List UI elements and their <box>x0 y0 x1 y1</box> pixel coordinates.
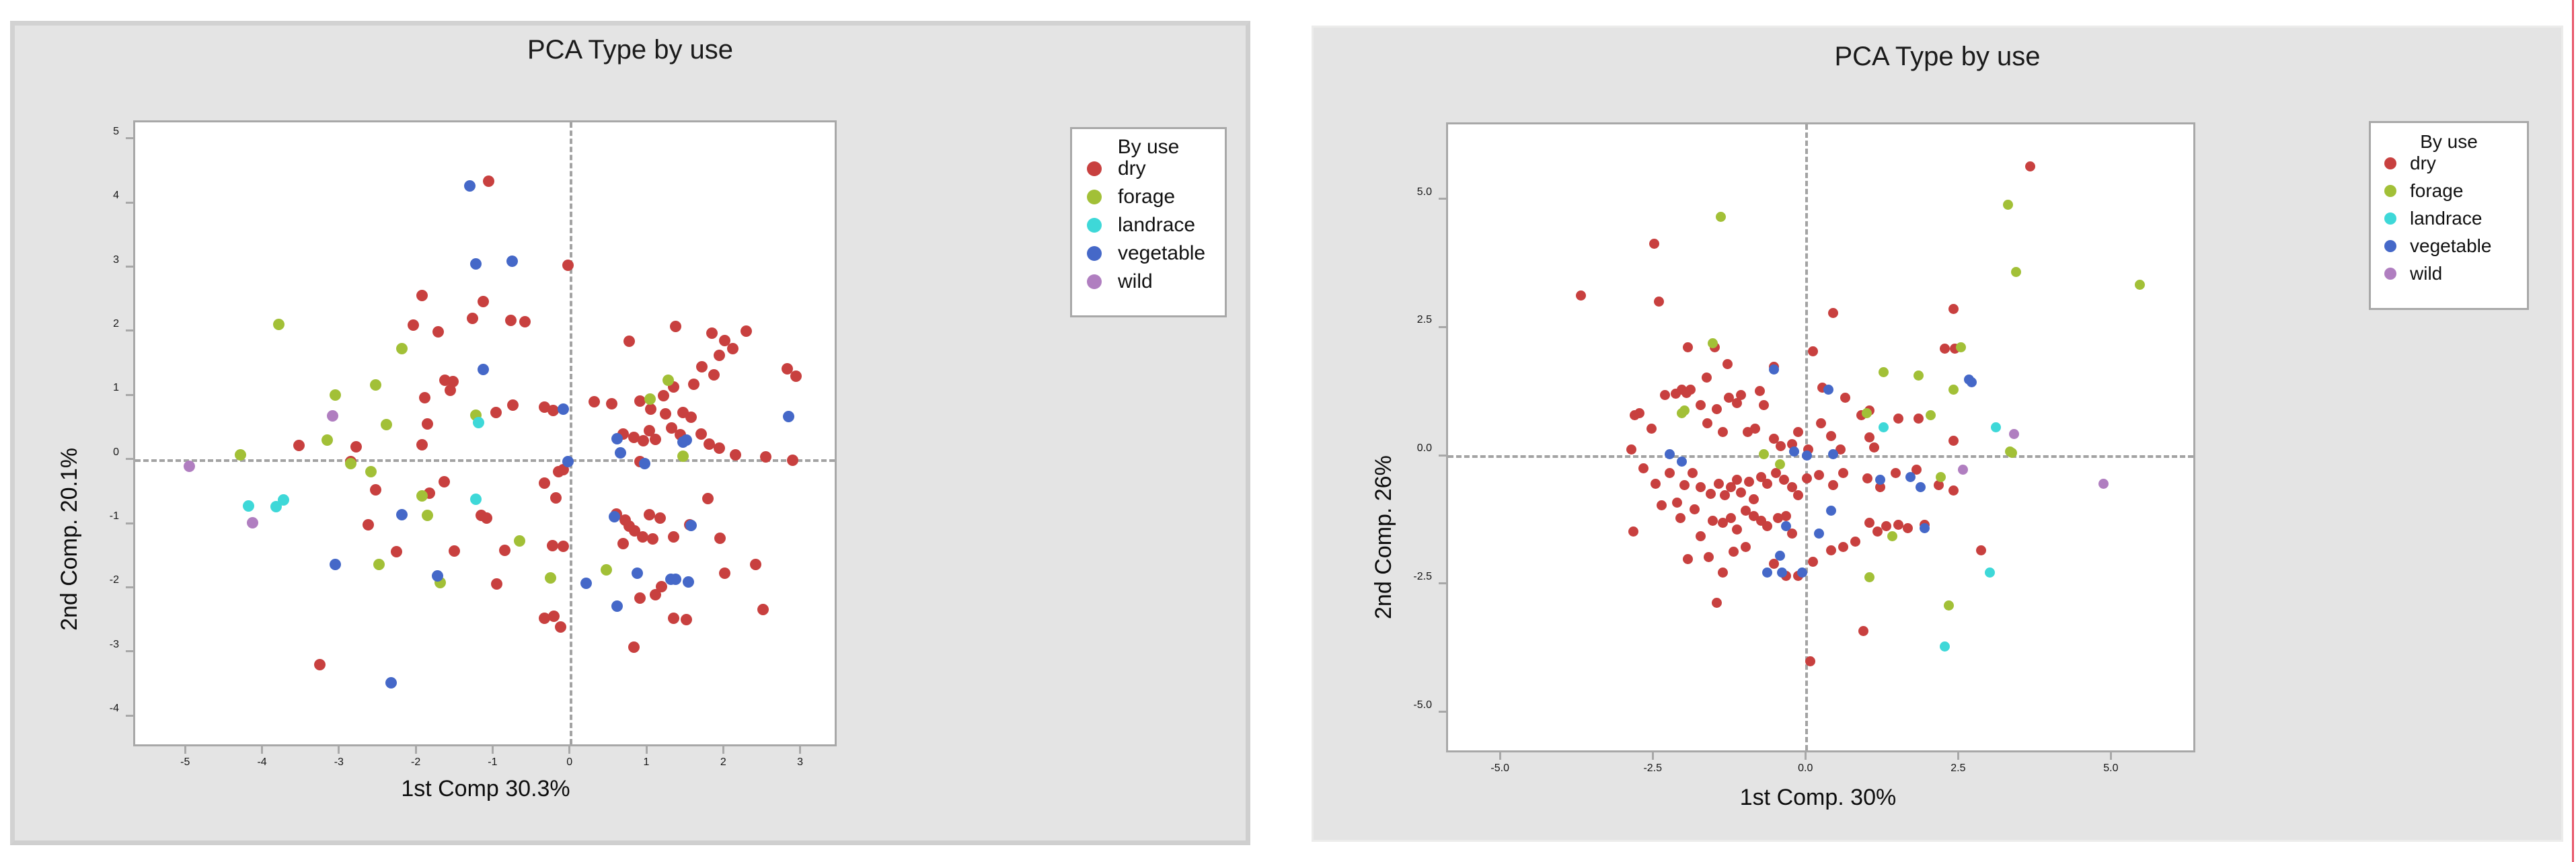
left-chart-panel: PCA Type by use -5-4-3-2-10123-4-3-2-101… <box>10 21 1250 845</box>
y-tick <box>126 458 135 460</box>
y-tick <box>1439 326 1448 328</box>
data-point <box>1826 506 1836 516</box>
x-tick <box>261 744 263 754</box>
data-point <box>1958 465 1968 475</box>
data-point <box>1672 498 1682 508</box>
x-tick-label: -3 <box>299 756 379 769</box>
data-point <box>1926 410 1936 420</box>
data-point <box>562 456 574 467</box>
data-point <box>639 458 650 469</box>
data-point <box>1702 418 1712 428</box>
legend-swatch-icon <box>1087 274 1102 289</box>
legend-swatch-icon <box>1087 218 1102 233</box>
data-point <box>321 434 333 446</box>
data-point <box>2135 280 2145 290</box>
data-point <box>1903 523 1913 533</box>
data-point <box>243 500 254 512</box>
data-point <box>1914 370 1924 381</box>
x-tick-label: 1 <box>606 756 687 769</box>
data-point <box>662 375 674 386</box>
data-point <box>1712 404 1722 414</box>
data-point <box>1789 446 1799 457</box>
right-plot-area <box>1446 122 2195 752</box>
data-point <box>555 621 566 633</box>
data-point <box>1781 511 1791 521</box>
data-point <box>1940 641 1950 652</box>
data-point <box>644 393 656 405</box>
left-x-axis-label: 1st Comp 30.3% <box>15 776 956 802</box>
left-plot-area <box>133 120 837 746</box>
data-point <box>2025 161 2035 171</box>
data-point <box>760 451 771 463</box>
data-point <box>1828 308 1838 318</box>
right-x-axis-label: 1st Comp. 30% <box>1314 785 2322 811</box>
data-point <box>1775 551 1785 561</box>
data-point <box>1722 359 1733 369</box>
data-point <box>330 559 341 570</box>
data-point <box>327 410 338 422</box>
data-point <box>1823 385 1833 395</box>
data-point <box>422 510 433 521</box>
data-point <box>1646 424 1657 434</box>
data-point <box>617 538 629 549</box>
legend-swatch-icon <box>2384 240 2396 252</box>
legend-label: dry <box>2410 153 2436 174</box>
data-point <box>727 343 738 354</box>
data-point <box>1826 431 1836 441</box>
legend-item-vegetable[interactable]: vegetable <box>2384 235 2491 257</box>
data-point <box>1864 518 1874 528</box>
data-point <box>1838 468 1848 478</box>
x-tick-label: -5.0 <box>1460 762 1540 775</box>
data-point <box>1677 457 1687 467</box>
y-tick <box>126 715 135 717</box>
data-point <box>589 396 600 407</box>
data-point <box>750 559 761 570</box>
data-point <box>1864 572 1874 582</box>
x-tick <box>722 744 724 754</box>
data-point <box>1718 567 1728 578</box>
data-point <box>1805 656 1815 666</box>
data-point <box>1864 432 1874 442</box>
data-point <box>1893 520 1903 530</box>
left-legend: By usedryforagelandracevegetablewild <box>1070 127 1227 317</box>
data-point <box>1887 531 1897 541</box>
data-point <box>1814 470 1824 480</box>
data-point <box>449 545 460 557</box>
data-point <box>1762 567 1772 578</box>
data-point <box>2011 267 2021 277</box>
data-point <box>1948 304 1959 314</box>
data-point <box>702 493 714 504</box>
data-point <box>363 519 374 531</box>
data-point <box>1776 441 1786 451</box>
data-point <box>615 447 626 459</box>
legend-label: dry <box>1118 157 1146 180</box>
data-point <box>688 379 699 390</box>
data-point <box>757 604 769 615</box>
data-point <box>695 428 707 440</box>
legend-swatch-icon <box>1087 161 1102 176</box>
left-chart-title: PCA Type by use <box>15 35 1246 65</box>
x-tick <box>492 744 494 754</box>
legend-item-forage[interactable]: forage <box>1087 186 1175 208</box>
data-point <box>1916 482 1926 492</box>
x-tick <box>1652 750 1654 760</box>
x-tick-label: -4 <box>222 756 303 769</box>
data-point <box>623 336 635 347</box>
legend-item-wild[interactable]: wild <box>1087 270 1153 293</box>
data-point <box>385 677 397 689</box>
data-point <box>644 509 655 520</box>
data-point <box>1991 422 2001 432</box>
data-point <box>708 369 720 381</box>
data-point <box>1749 494 1759 504</box>
data-point <box>683 576 694 588</box>
legend-item-landrace[interactable]: landrace <box>2384 208 2482 229</box>
data-point <box>1948 485 1959 496</box>
data-point <box>1690 504 1700 514</box>
data-point <box>184 461 195 472</box>
x-reference-line <box>570 122 572 744</box>
legend-item-dry[interactable]: dry <box>2384 153 2436 174</box>
data-point <box>373 559 385 570</box>
data-point <box>609 511 620 522</box>
data-point <box>1732 475 1742 485</box>
data-point <box>1956 342 1966 352</box>
y-tick <box>1439 711 1448 713</box>
legend-item-vegetable[interactable]: vegetable <box>1087 242 1205 265</box>
data-point <box>1840 393 1850 403</box>
data-point <box>580 578 592 589</box>
y-tick-label: 3 <box>18 254 119 266</box>
data-point <box>416 439 428 450</box>
data-point <box>365 466 377 477</box>
data-point <box>1654 297 1664 307</box>
data-point <box>1793 490 1803 500</box>
data-point <box>650 434 661 445</box>
left-y-axis-label: 2nd Comp. 20.1% <box>56 448 83 631</box>
data-point <box>714 442 725 454</box>
data-point <box>1891 468 1901 478</box>
legend-swatch-icon <box>1087 190 1102 204</box>
data-point <box>1816 418 1826 428</box>
legend-item-wild[interactable]: wild <box>2384 263 2442 284</box>
data-point <box>670 574 681 585</box>
data-point <box>1879 422 1889 432</box>
data-point <box>1706 489 1716 499</box>
legend-swatch-icon <box>2384 212 2396 225</box>
data-point <box>668 613 679 624</box>
data-point <box>2007 448 2017 458</box>
y-tick-label: -4 <box>18 703 119 715</box>
legend-swatch-icon <box>2384 268 2396 280</box>
data-point <box>481 512 492 524</box>
x-tick <box>1805 750 1807 760</box>
data-point <box>1708 338 1718 348</box>
data-point <box>654 512 666 524</box>
data-point <box>1634 408 1644 418</box>
x-tick <box>1957 750 1959 760</box>
y-tick <box>126 137 135 139</box>
data-point <box>1869 442 1879 453</box>
data-point <box>483 175 494 187</box>
data-point <box>1762 479 1772 489</box>
x-tick-label: 3 <box>760 756 841 769</box>
data-point <box>696 361 708 373</box>
y-tick <box>1439 582 1448 584</box>
data-point <box>419 392 430 403</box>
data-point <box>611 433 623 444</box>
data-point <box>314 659 326 670</box>
data-point <box>706 327 718 339</box>
data-point <box>1696 531 1706 541</box>
y-tick <box>126 394 135 396</box>
data-point <box>350 441 362 453</box>
data-point <box>632 567 643 579</box>
data-point <box>685 520 697 531</box>
data-point <box>1665 468 1675 478</box>
x-tick-label: 0.0 <box>1765 762 1846 775</box>
data-point <box>558 541 569 552</box>
data-point <box>478 296 489 307</box>
data-point <box>741 325 752 337</box>
x-tick <box>799 744 801 754</box>
data-point <box>464 180 476 192</box>
data-point <box>1720 490 1730 500</box>
data-point <box>467 313 478 324</box>
x-tick <box>2110 750 2112 760</box>
data-point <box>1944 600 1954 611</box>
y-tick-label: 0.0 <box>1331 442 1432 455</box>
data-point <box>1741 542 1751 552</box>
data-point <box>1696 482 1706 492</box>
data-point <box>1750 424 1760 434</box>
data-point <box>1708 516 1718 526</box>
data-point <box>1762 521 1772 531</box>
legend-label: landrace <box>1118 214 1195 237</box>
data-point <box>1651 479 1661 489</box>
right-chart-title: PCA Type by use <box>1314 42 2561 72</box>
x-tick <box>646 744 648 754</box>
legend-swatch-icon <box>1087 246 1102 261</box>
data-point <box>547 540 558 551</box>
data-point <box>670 321 681 332</box>
data-point <box>416 290 428 301</box>
y-tick-label: -3 <box>18 639 119 651</box>
data-point <box>1649 239 1659 249</box>
data-point <box>1696 400 1706 410</box>
legend-label: vegetable <box>2410 235 2491 257</box>
data-point <box>1814 528 1824 539</box>
data-point <box>1875 475 1885 485</box>
legend-item-landrace[interactable]: landrace <box>1087 214 1195 237</box>
data-point <box>1769 559 1779 569</box>
data-point <box>1879 367 1889 377</box>
data-point <box>1797 567 1807 578</box>
data-point <box>1628 526 1638 537</box>
data-point <box>519 316 531 327</box>
y-tick <box>126 266 135 268</box>
data-point <box>293 440 305 451</box>
data-point <box>2009 429 2019 439</box>
x-tick-label: 0 <box>529 756 610 769</box>
data-point <box>628 641 640 653</box>
data-point <box>545 572 556 584</box>
y-tick <box>1439 455 1448 457</box>
y-reference-line <box>1448 455 2193 458</box>
data-point <box>787 455 798 466</box>
legend-label: vegetable <box>1118 242 1205 265</box>
data-point <box>1638 463 1649 473</box>
data-point <box>1808 346 1818 356</box>
data-point <box>396 509 408 520</box>
data-point <box>1905 472 1916 482</box>
data-point <box>1683 342 1693 352</box>
data-point <box>719 567 730 579</box>
data-point <box>539 477 550 489</box>
x-tick <box>568 744 570 754</box>
data-point <box>1716 212 1726 222</box>
data-point <box>273 319 285 330</box>
data-point <box>473 417 484 428</box>
data-point <box>470 494 482 505</box>
y-tick-label: 4 <box>18 190 119 202</box>
data-point <box>370 484 381 496</box>
data-point <box>611 600 623 612</box>
y-tick <box>1439 198 1448 200</box>
x-tick-label: -2 <box>375 756 456 769</box>
data-point <box>278 494 289 506</box>
data-point <box>783 411 794 422</box>
y-tick-label: 5.0 <box>1331 186 1432 198</box>
data-point <box>1802 473 1812 483</box>
data-point <box>550 492 562 504</box>
data-point <box>1967 377 1977 387</box>
data-point <box>445 385 456 396</box>
x-tick <box>1499 750 1501 760</box>
x-tick-label: -5 <box>145 756 225 769</box>
y-tick <box>126 522 135 524</box>
y-tick <box>126 202 135 204</box>
data-point <box>634 592 646 604</box>
data-point <box>432 326 444 338</box>
y-tick <box>126 329 135 331</box>
legend-item-forage[interactable]: forage <box>2384 180 2463 202</box>
data-point <box>1893 414 1903 424</box>
data-point <box>247 517 258 528</box>
data-point <box>658 390 669 401</box>
data-point <box>548 611 560 622</box>
data-point <box>416 490 428 502</box>
data-point <box>714 350 725 361</box>
data-point <box>1828 449 1838 459</box>
data-point <box>1914 414 1924 424</box>
data-point <box>790 370 802 382</box>
x-tick-label: 2.5 <box>1918 762 1998 775</box>
legend-item-dry[interactable]: dry <box>1087 157 1146 180</box>
legend-title: By use <box>2371 131 2527 153</box>
data-point <box>1850 537 1860 547</box>
right-edge-accent-line <box>2572 0 2574 862</box>
x-tick <box>338 744 340 754</box>
right-chart-panel: PCA Type by use -5.0-2.50.02.55.0-5.0-2.… <box>1312 26 2563 842</box>
data-point <box>470 258 482 270</box>
data-point <box>1626 444 1636 455</box>
data-point <box>558 403 569 415</box>
legend-label: forage <box>1118 186 1175 208</box>
data-point <box>2098 479 2109 489</box>
legend-label: wild <box>2410 263 2442 284</box>
data-point <box>714 533 726 544</box>
data-point <box>1759 400 1769 410</box>
data-point <box>1702 373 1712 383</box>
data-point <box>2003 200 2013 210</box>
data-point <box>1685 385 1696 395</box>
data-point <box>1793 427 1803 437</box>
data-point <box>1714 479 1724 489</box>
data-point <box>1755 386 1765 396</box>
legend-label: forage <box>2410 180 2463 202</box>
data-point <box>1744 477 1754 487</box>
data-point <box>645 403 656 415</box>
x-tick <box>415 744 417 754</box>
data-point <box>681 614 692 625</box>
data-point <box>1683 554 1693 564</box>
x-tick-label: 5.0 <box>2070 762 2151 775</box>
data-point <box>685 412 697 423</box>
y-tick-label: -5.0 <box>1331 699 1432 711</box>
data-point <box>1838 542 1848 552</box>
y-tick <box>126 650 135 652</box>
data-point <box>647 533 658 545</box>
data-point <box>506 256 518 267</box>
data-point <box>1732 524 1742 535</box>
data-point <box>432 570 443 582</box>
data-point <box>1679 480 1690 490</box>
data-point <box>505 315 517 326</box>
data-point <box>553 466 564 477</box>
data-point <box>1826 545 1836 555</box>
data-point <box>1808 557 1818 567</box>
data-point <box>1712 598 1722 608</box>
data-point <box>1781 521 1791 531</box>
data-point <box>1858 626 1868 636</box>
legend-title: By use <box>1072 136 1225 159</box>
legend-swatch-icon <box>2384 157 2396 169</box>
data-point <box>1948 385 1959 395</box>
right-y-axis-label: 2nd Comp. 26% <box>1371 455 1397 619</box>
y-tick <box>126 586 135 588</box>
data-point <box>1769 364 1779 375</box>
data-point <box>1688 468 1698 478</box>
data-point <box>606 398 617 409</box>
data-point <box>601 564 612 576</box>
data-point <box>1576 290 1586 301</box>
data-point <box>381 419 392 430</box>
data-point <box>1660 390 1670 400</box>
data-point <box>330 389 341 401</box>
y-tick-label: 2.5 <box>1331 314 1432 326</box>
right-legend: By usedryforagelandracevegetablewild <box>2369 121 2529 310</box>
data-point <box>514 535 525 547</box>
data-point <box>507 399 519 411</box>
data-point <box>499 545 510 556</box>
data-point <box>490 407 502 418</box>
data-point <box>1704 552 1714 562</box>
data-point <box>1736 487 1746 498</box>
data-point <box>562 260 574 271</box>
